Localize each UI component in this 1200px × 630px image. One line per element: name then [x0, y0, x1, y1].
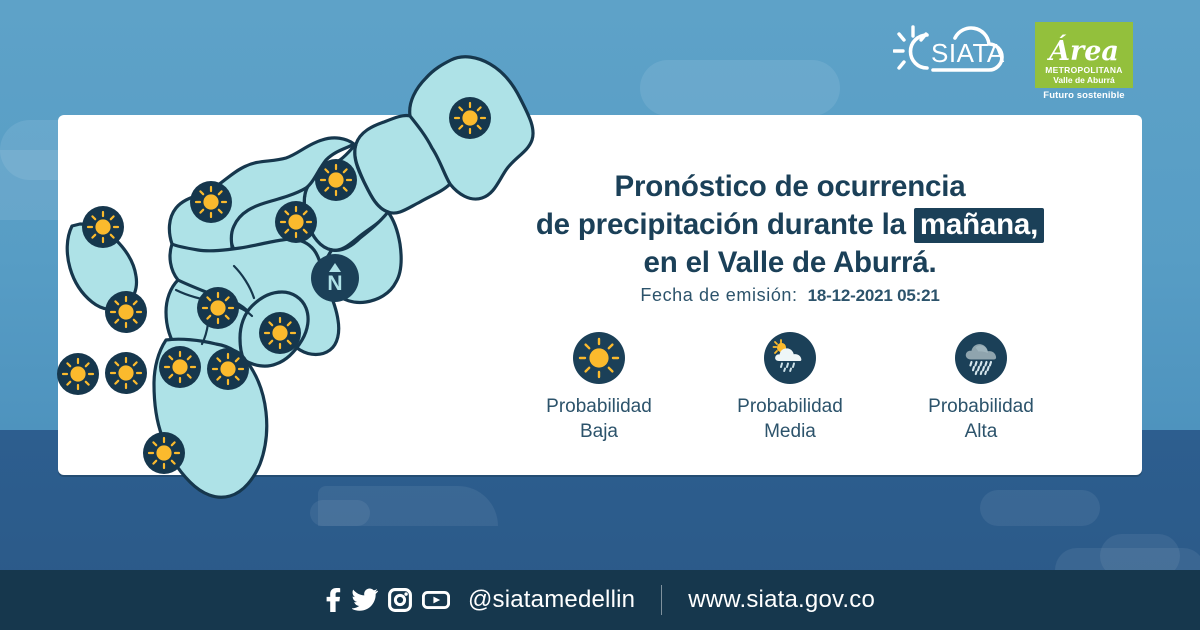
- title-line-2-prefix: de precipitación durante la: [536, 208, 906, 241]
- area-logo-line2: Valle de Aburrá: [1053, 75, 1115, 85]
- area-logo-line1: METROPOLITANA: [1045, 66, 1122, 75]
- legend-label-line1: Probabilidad: [928, 396, 1034, 417]
- emission-value: 18-12-2021 05:21: [808, 286, 940, 305]
- legend-label-alta: Probabilidad Alta: [928, 394, 1034, 444]
- station-marker[interactable]: [259, 312, 301, 354]
- station-marker[interactable]: [190, 181, 232, 223]
- legend-item-alta[interactable]: Probabilidad Alta: [888, 332, 1074, 444]
- infographic-canvas: SIATA Área METROPOLITANA Valle de Aburrá…: [0, 0, 1200, 630]
- station-marker[interactable]: [275, 201, 317, 243]
- station-marker[interactable]: [207, 348, 249, 390]
- footer-content: @siatamedellin www.siata.gov.co: [325, 585, 875, 615]
- legend-label-line1: Probabilidad: [546, 396, 652, 417]
- legend-label-line1: Probabilidad: [737, 396, 843, 417]
- sun-icon: [573, 332, 625, 384]
- legend-label-baja: Probabilidad Baja: [546, 394, 652, 444]
- emission-label: Fecha de emisión:: [640, 285, 797, 305]
- station-marker[interactable]: [143, 432, 185, 474]
- cloud-heavy-rain-icon: [955, 332, 1007, 384]
- website-url[interactable]: www.siata.gov.co: [688, 586, 875, 614]
- instagram-icon[interactable]: [388, 588, 412, 612]
- legend-item-media[interactable]: Probabilidad Media: [697, 332, 883, 444]
- legend-label-line2: Baja: [580, 421, 618, 442]
- area-logo-tagline: Futuro sostenible: [1035, 90, 1133, 101]
- siata-wordmark: SIATA: [931, 38, 1005, 68]
- sun-cloud-rain-icon: [764, 332, 816, 384]
- sun-cloud-icon: SIATA: [893, 24, 1023, 80]
- station-marker[interactable]: [105, 352, 147, 394]
- legend-label-line2: Media: [764, 421, 816, 442]
- station-marker[interactable]: [449, 97, 491, 139]
- station-marker[interactable]: [105, 291, 147, 333]
- station-marker[interactable]: [197, 287, 239, 329]
- station-marker[interactable]: [57, 353, 99, 395]
- area-metropolitana-logo[interactable]: Área METROPOLITANA Valle de Aburrá Futur…: [1035, 22, 1133, 110]
- area-script-wordmark: Área: [1049, 39, 1119, 65]
- station-marker[interactable]: [159, 346, 201, 388]
- siata-logo[interactable]: SIATA: [893, 24, 1023, 80]
- compass-badge[interactable]: N: [311, 254, 359, 302]
- title-highlight-mañana: mañana,: [914, 208, 1044, 243]
- footer-bar: @siatamedellin www.siata.gov.co: [0, 570, 1200, 630]
- title-line-3: en el Valle de Aburrá.: [644, 246, 937, 279]
- station-marker[interactable]: [82, 206, 124, 248]
- legend-item-baja[interactable]: Probabilidad Baja: [506, 332, 692, 444]
- social-icons: [325, 587, 450, 613]
- social-handle[interactable]: @siatamedellin: [468, 586, 635, 614]
- station-marker[interactable]: [315, 159, 357, 201]
- twitter-icon[interactable]: [352, 588, 378, 612]
- legend-label-media: Probabilidad Media: [737, 394, 843, 444]
- compass-label: N: [327, 272, 342, 295]
- page-title: Pronóstico de ocurrencia de precipitació…: [470, 168, 1110, 282]
- emission-date: Fecha de emisión: 18-12-2021 05:21: [470, 285, 1110, 306]
- youtube-icon[interactable]: [422, 589, 450, 611]
- probability-legend: Probabilidad Baja: [470, 332, 1110, 444]
- area-logo-block: Área METROPOLITANA Valle de Aburrá: [1035, 22, 1133, 88]
- legend-label-line2: Alta: [965, 421, 998, 442]
- title-line-1: Pronóstico de ocurrencia: [615, 170, 966, 203]
- facebook-icon[interactable]: [325, 587, 342, 613]
- sun-arc: [911, 35, 928, 68]
- footer-divider: [661, 585, 662, 615]
